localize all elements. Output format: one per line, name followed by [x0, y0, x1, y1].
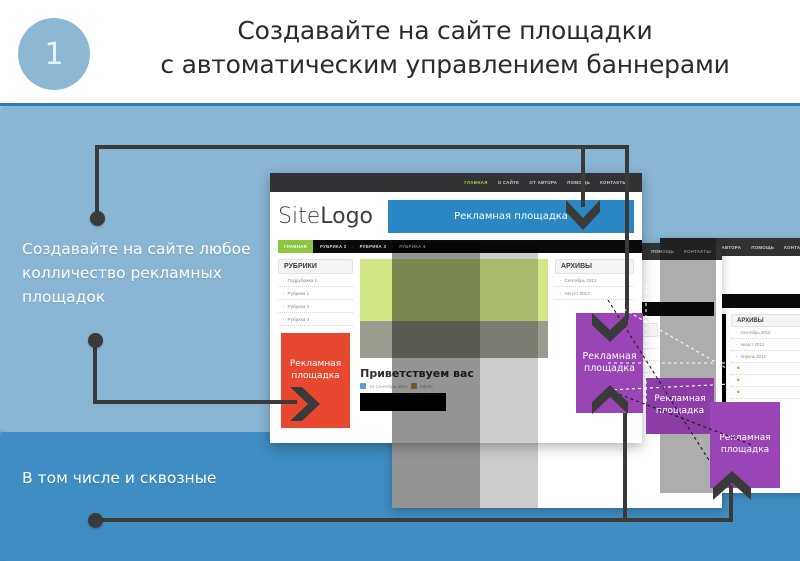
connector-h-bottom — [93, 518, 733, 522]
slide-stage: ОТ АВТОРА ПОМОЩЬ КОНТАКТЫ АРХИВЫ Сентябр… — [0, 0, 800, 561]
connector-dot-mid — [88, 333, 103, 348]
nav-item-ot-avtora[interactable]: ОТ АВТОРА — [524, 180, 562, 185]
logo-bold: Logo — [320, 204, 373, 229]
page-title-line1: Создавайте на сайте площадки — [237, 16, 652, 45]
logo-light: Site — [278, 204, 320, 229]
back-nav-item[interactable]: КОНТАКТЫ — [779, 245, 800, 250]
arrow-right-red-banner — [288, 383, 322, 425]
arrow-down-purple-banner — [589, 312, 631, 344]
mid-window-shade — [392, 243, 480, 508]
ad-red-line1: Рекламная — [290, 359, 341, 370]
arrow-up-purple-banner — [589, 384, 631, 416]
subnav-item-rubrika-3[interactable]: РУБРИКА 3 — [354, 244, 393, 249]
connector-v-mid — [93, 340, 97, 402]
rubriki-heading: РУБРИКИ — [278, 259, 353, 274]
slide-header: 1 Создавайте на сайте площадки с автомат… — [0, 0, 800, 106]
nav-item-pomosch[interactable]: ПОМОЩЬ — [562, 180, 595, 185]
mid-window-shade-2 — [480, 243, 538, 508]
caption-cross-site: В том числе и сквозные — [22, 466, 282, 490]
page-title: Создавайте на сайте площадки с автоматич… — [110, 14, 780, 82]
rubriki-item[interactable]: Подрубрика 1 — [278, 274, 353, 287]
step-number-badge: 1 — [18, 18, 90, 90]
subnav-item-rubrika-2[interactable]: РУБРИКА 2 — [314, 244, 353, 249]
site-logo[interactable]: SiteLogo — [278, 204, 378, 229]
nav-item-o-sayte[interactable]: О САЙТЕ — [493, 180, 525, 185]
arrow-up-purple-back — [710, 470, 754, 502]
main-topnav: ГЛАВНАЯ О САЙТЕ ОТ АВТОРА ПОМОЩЬ КОНТАКТ… — [270, 173, 642, 192]
arrow-down-blue-banner — [562, 198, 604, 232]
rubriki-item[interactable]: Рубрика 1 — [278, 287, 353, 300]
caption-create-platforms: Создавайте на сайте любое колличество ре… — [22, 237, 262, 309]
connector-v-top-left — [95, 145, 99, 215]
connector-dot-top — [90, 211, 105, 226]
rubriki-item[interactable]: Рубрика 2 — [278, 300, 353, 313]
rubriki-item[interactable]: Рубрика 3 — [278, 313, 353, 326]
ad-red-line2: площадка — [290, 371, 341, 382]
step-number: 1 — [44, 37, 63, 72]
connector-h-mid — [93, 400, 297, 404]
calendar-icon — [360, 383, 366, 389]
connector-h-top — [95, 145, 629, 149]
connector-dot-bottom — [88, 513, 103, 528]
subnav-item-glavnaya[interactable]: ГЛАВНАЯ — [278, 240, 313, 253]
ad-blue-label: Рекламная площадка — [454, 211, 568, 222]
page-title-line2: с автоматическим управлением баннерами — [110, 48, 780, 82]
arhivy-heading: АРХИВЫ — [555, 259, 634, 274]
nav-item-glavnaya[interactable]: ГЛАВНАЯ — [459, 180, 492, 185]
back-nav-item[interactable]: ПОМОЩЬ — [746, 245, 779, 250]
